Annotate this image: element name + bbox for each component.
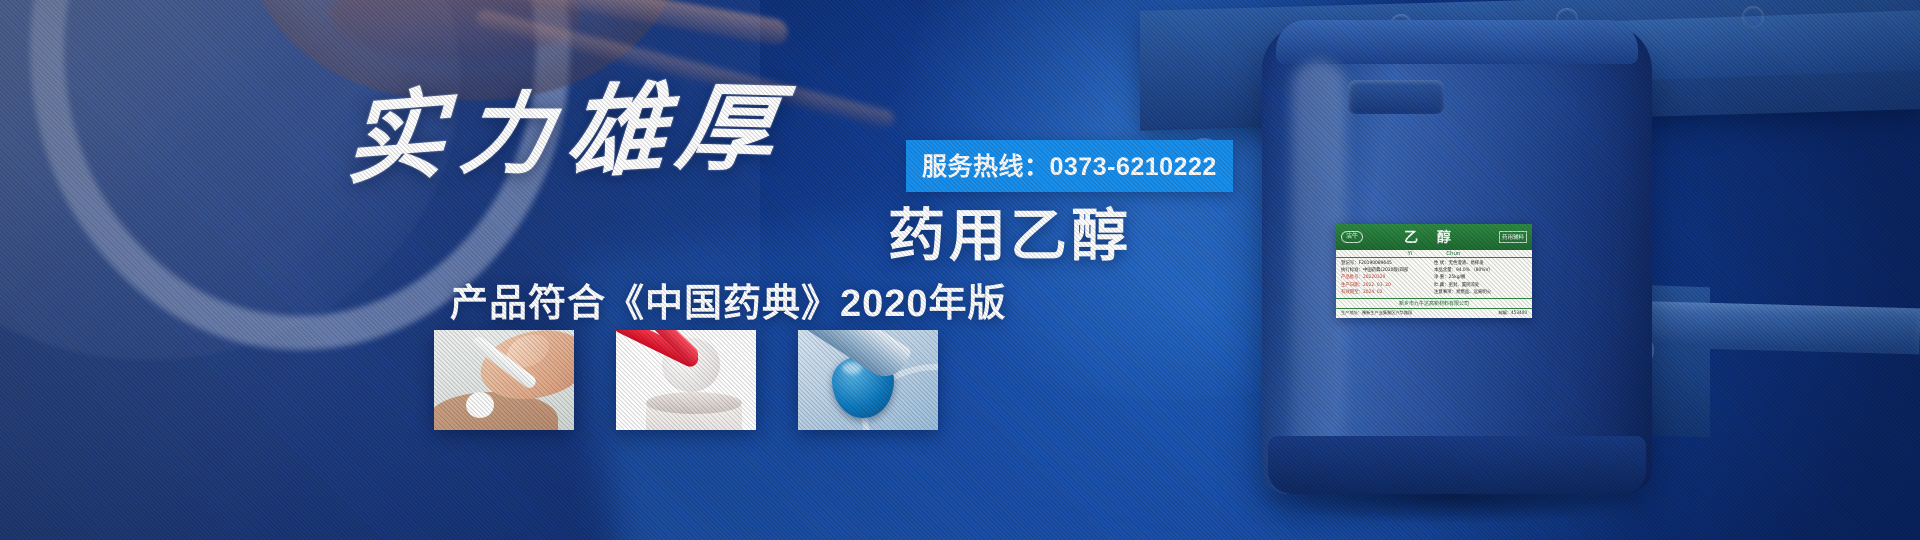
thumbnail-cotton-swab-on-skin[interactable] (434, 330, 574, 430)
banner-content: 实力雄厚 服务热线：0373-6210222 药用乙醇 产品符合《中国药典》20… (0, 0, 1920, 540)
headline-char-1: 实 (344, 85, 461, 191)
jar-rim-icon (646, 392, 742, 414)
page-title: 实力雄厚 (343, 80, 794, 187)
hotline-badge[interactable]: 服务热线：0373-6210222 (906, 140, 1233, 192)
thumbnail-blue-liquid-droplet[interactable] (798, 330, 938, 430)
headline-char-3: 雄 (563, 79, 684, 186)
product-banner: 洁牛 乙 醇 药用辅料 Yi Chun 登记号：F20190089645 性 状… (0, 0, 1920, 540)
headline-char-4: 厚 (672, 80, 796, 179)
thumbnail-tweezers-cotton-ball[interactable] (616, 330, 756, 430)
product-name: 药用乙醇 (888, 190, 1132, 272)
page-subtitle: 产品符合《中国药典》2020年版 (450, 272, 1007, 327)
swab-tip-icon (466, 392, 494, 418)
headline-char-2: 力 (456, 90, 570, 180)
thumbnail-strip (434, 330, 938, 430)
